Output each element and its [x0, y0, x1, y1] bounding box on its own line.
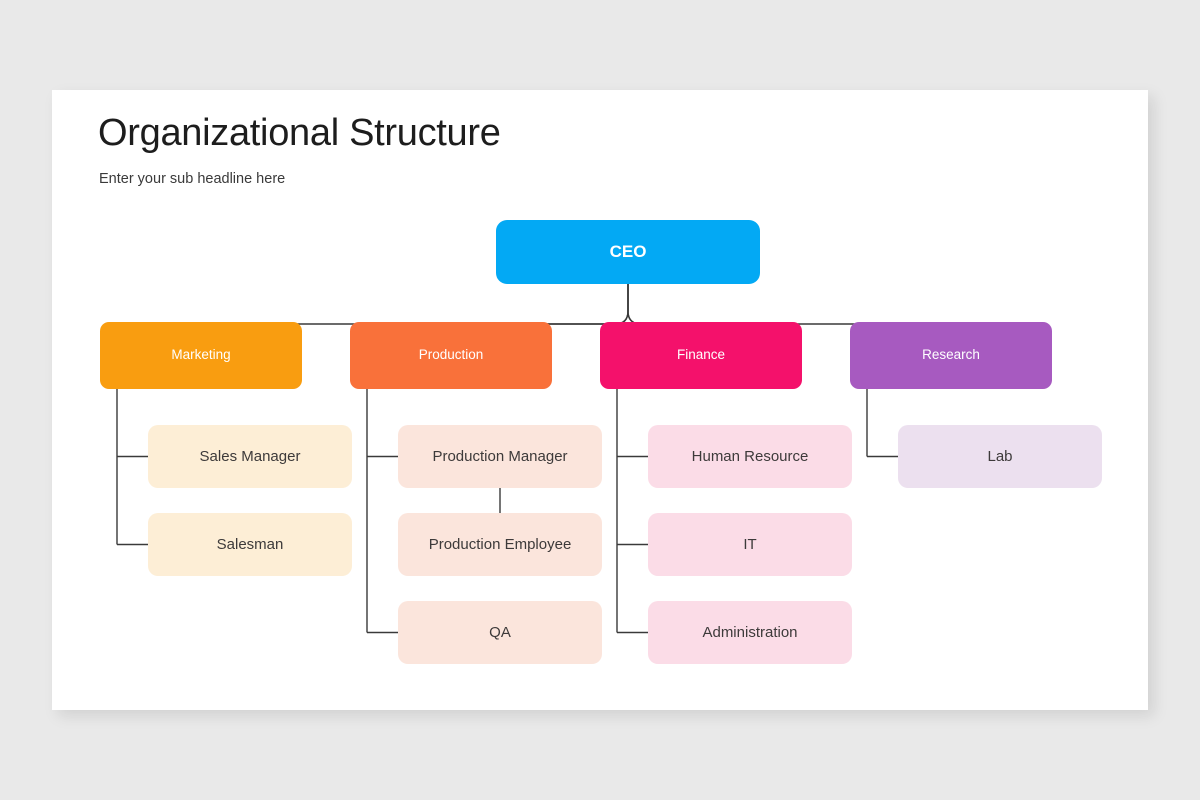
org-node-label: CEO [610, 242, 647, 262]
org-node-label: Marketing [171, 347, 230, 363]
org-node-label: Salesman [217, 536, 284, 554]
org-node-label: Human Resource [692, 448, 809, 466]
org-node-sman[interactable]: Salesman [148, 513, 352, 576]
org-node-fin[interactable]: Finance [600, 322, 802, 389]
page-title: Organizational Structure [98, 112, 501, 155]
org-node-lab[interactable]: Lab [898, 425, 1102, 488]
org-node-label: Production Manager [432, 448, 567, 466]
org-node-qa[interactable]: QA [398, 601, 602, 664]
slide-canvas: Organizational Structure Enter your sub … [52, 90, 1148, 710]
org-node-label: Research [922, 347, 980, 363]
org-node-res[interactable]: Research [850, 322, 1052, 389]
org-node-mkt[interactable]: Marketing [100, 322, 302, 389]
org-node-ceo[interactable]: CEO [496, 220, 760, 284]
org-node-hr[interactable]: Human Resource [648, 425, 852, 488]
org-node-sm[interactable]: Sales Manager [148, 425, 352, 488]
page-subtitle: Enter your sub headline here [99, 171, 285, 187]
org-node-label: Lab [987, 448, 1012, 466]
org-node-label: Production [419, 347, 484, 363]
org-node-pm[interactable]: Production Manager [398, 425, 602, 488]
org-node-it[interactable]: IT [648, 513, 852, 576]
org-node-label: IT [743, 536, 756, 554]
org-node-label: QA [489, 624, 511, 642]
org-node-label: Production Employee [429, 536, 572, 554]
org-node-pe[interactable]: Production Employee [398, 513, 602, 576]
org-node-label: Finance [677, 347, 725, 363]
org-node-prd[interactable]: Production [350, 322, 552, 389]
org-node-label: Administration [702, 624, 797, 642]
org-node-label: Sales Manager [200, 448, 301, 466]
org-node-adm[interactable]: Administration [648, 601, 852, 664]
